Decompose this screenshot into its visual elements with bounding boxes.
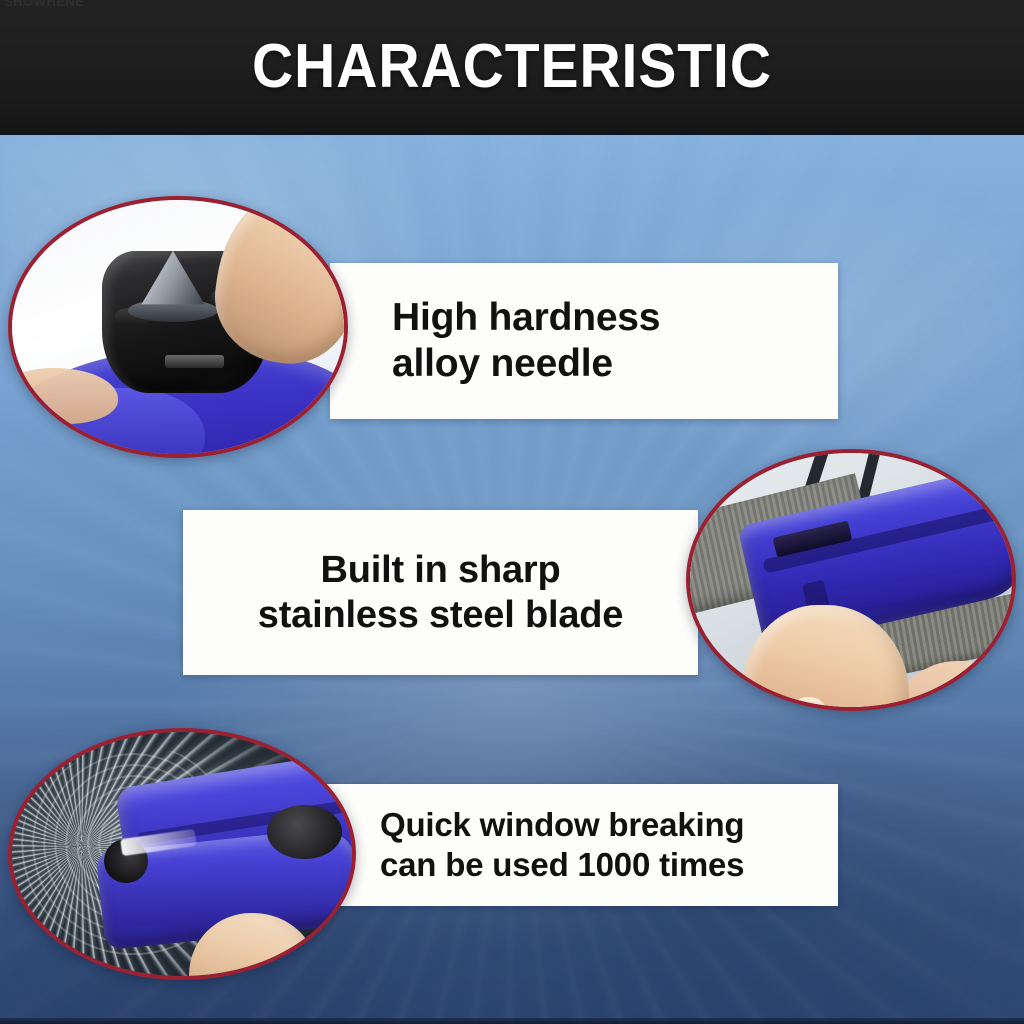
brand-watermark: SHOWHENE: [4, 0, 85, 9]
feature-text-needle-line-2: alloy needle: [392, 341, 838, 387]
feature-text-needle-line-1: High hardness: [392, 295, 838, 341]
feature-panel-needle: High hardness alloy needle: [330, 263, 838, 419]
needle-photo-head-slot: [165, 355, 225, 368]
feature-text-window: Quick window breaking can be used 1000 t…: [318, 805, 838, 884]
window-photo-inner: [12, 732, 352, 976]
blade-photo-thumbnail: [788, 697, 828, 707]
background-bottom-edge: [0, 1018, 1024, 1024]
feature-text-blade-line-1: Built in sharp: [197, 548, 684, 592]
product-infographic-poster: SHOWHENE CHARACTERISTIC High hardness al…: [0, 0, 1024, 1024]
window-photo-end-cap: [267, 805, 342, 859]
feature-text-window-line-1: Quick window breaking: [380, 805, 838, 845]
header-band: SHOWHENE CHARACTERISTIC: [0, 0, 1024, 135]
blade-photo-inner: [690, 453, 1012, 707]
page-title: CHARACTERISTIC: [41, 36, 983, 98]
feature-panel-window: Quick window breaking can be used 1000 t…: [318, 784, 838, 906]
needle-photo-inner: [12, 200, 344, 454]
seatbelt-cutter-photo: [686, 449, 1016, 711]
feature-panel-blade: Built in sharp stainless steel blade: [183, 510, 698, 675]
glass-breaking-photo: [8, 728, 356, 980]
feature-text-needle: High hardness alloy needle: [330, 295, 838, 386]
feature-text-window-line-2: can be used 1000 times: [380, 845, 838, 885]
feature-text-blade: Built in sharp stainless steel blade: [183, 548, 698, 637]
feature-text-blade-line-2: stainless steel blade: [197, 593, 684, 637]
needle-closeup-photo: [8, 196, 348, 458]
